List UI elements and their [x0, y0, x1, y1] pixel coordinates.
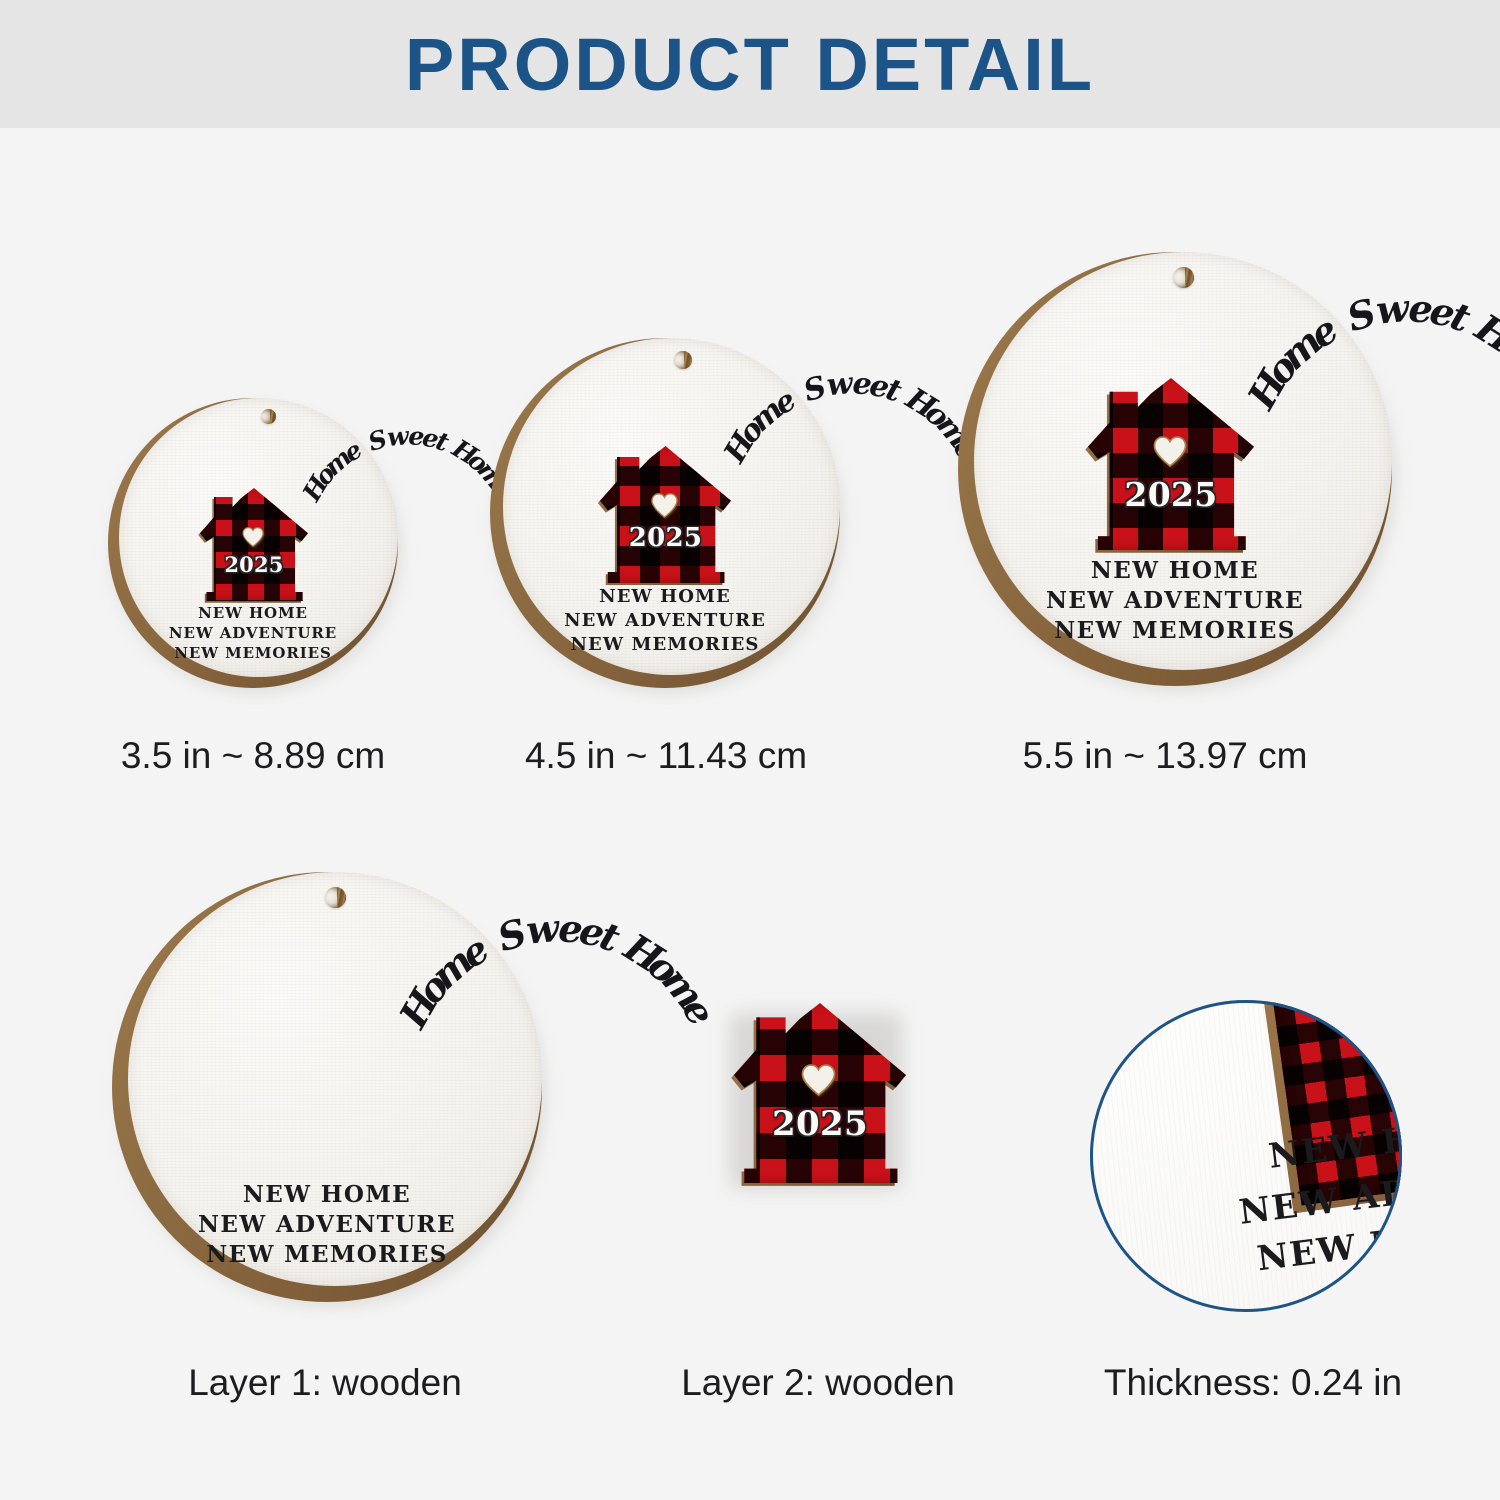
arc-char: e [673, 990, 724, 1033]
arc-char: m [653, 958, 713, 1018]
arc-char: w [524, 905, 561, 953]
heart-cutout-icon [801, 1064, 836, 1096]
ornament-face [128, 872, 542, 1286]
hanging-hole-icon [1173, 267, 1194, 288]
arc-char: t [432, 426, 452, 457]
arc-char: e [1407, 285, 1435, 332]
arc-char: w [386, 421, 410, 452]
hanging-hole-icon [261, 409, 276, 424]
arc-char: e [576, 907, 609, 956]
caption-thickness: Thickness: 0.24 in [1073, 1362, 1433, 1404]
arc-char: e [1426, 287, 1459, 336]
plaid-house: 2025 [200, 488, 308, 601]
arc-char: o [1491, 323, 1500, 374]
arc-char: w [1374, 285, 1411, 333]
hanging-hole-icon [325, 887, 346, 908]
arc-char: w [825, 366, 854, 403]
caption-size-medium: 4.5 in ~ 11.43 cm [486, 735, 846, 777]
arc-char: H [1468, 305, 1500, 362]
ornament-layer-2[interactable]: 2025 [734, 1003, 906, 1183]
ornament-size-large[interactable]: Home Sweet Home 2025 NEW HOME NEW ADVENT… [958, 252, 1392, 686]
heart-cutout-icon [651, 493, 678, 518]
ornament-size-medium[interactable]: Home Sweet Home 2025 NEW HOME NEW ADVENT… [490, 338, 840, 688]
year-label: 2025 [1088, 475, 1254, 514]
arc-char: t [595, 913, 626, 961]
arc-char [1460, 299, 1491, 345]
page-title: PRODUCT DETAIL [0, 22, 1500, 108]
plaid-house: 2025 [1088, 378, 1254, 550]
hanging-hole-icon [674, 351, 692, 369]
arc-char: H [617, 924, 671, 981]
caption-layer-2: Layer 2: wooden [638, 1362, 998, 1404]
arc-char: o [918, 396, 956, 436]
thickness-zoom-clip: 2025 NEW HOME NEW ADVENTURE NEW MEMORIES [1090, 1000, 1402, 1312]
ornament-layer-1[interactable]: Home Sweet Home NEW HOME NEW ADVENTURE N… [112, 872, 542, 1302]
arc-char: o [640, 942, 689, 993]
arc-char: e [420, 423, 442, 455]
arc-char: H [900, 381, 943, 426]
caption-size-large: 5.5 in ~ 13.97 cm [985, 735, 1345, 777]
arc-char: e [407, 421, 425, 451]
arc-char: t [1445, 293, 1476, 341]
arc-char: e [557, 905, 585, 952]
arc-char: e [851, 366, 873, 402]
heart-cutout-icon [1153, 436, 1187, 467]
year-label: 2025 [734, 1104, 906, 1144]
heart-cutout-icon [242, 527, 264, 547]
arc-char: t [882, 372, 906, 410]
plaid-house: 2025 [600, 446, 731, 583]
year-label: 2025 [600, 523, 731, 553]
caption-size-small: 3.5 in ~ 8.89 cm [73, 735, 433, 777]
year-label: 2025 [200, 552, 308, 577]
arc-char: e [866, 368, 892, 406]
ornament-size-small[interactable]: Home Sweet Home 2025 NEW HOME NEW ADVENT… [108, 398, 398, 688]
thickness-zoom-view[interactable]: 2025 NEW HOME NEW ADVENTURE NEW MEMORIES [1090, 1000, 1402, 1312]
arc-char [893, 377, 917, 413]
arc-char [609, 919, 640, 965]
arc-char: H [447, 434, 482, 471]
caption-layer-1: Layer 1: wooden [145, 1362, 505, 1404]
arc-char [442, 430, 462, 460]
